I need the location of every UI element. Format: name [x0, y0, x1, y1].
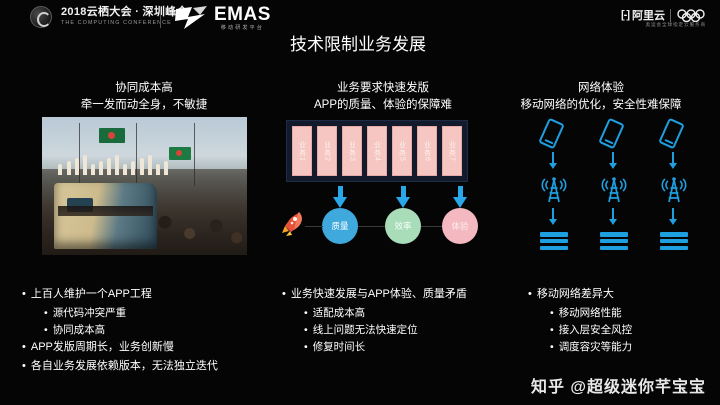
photo-person [164, 161, 168, 175]
bullet-dot-icon: • [304, 341, 308, 354]
column1-heading-line2: 牵一发而动全身，不敏捷 [28, 97, 260, 114]
connector-line [421, 226, 442, 227]
conference-branding: 2018云栖大会 · 深圳峰会 THE COMPUTING CONFERENCE [30, 6, 188, 28]
column2-heading-line2: APP的质量、体验的保障难 [278, 97, 488, 114]
outcome-circle[interactable]: 质量 [322, 208, 358, 244]
bullet-text: 源代码冲突严重 [53, 307, 127, 320]
server-rack-icon [660, 232, 688, 252]
business-box[interactable]: 业务7 [442, 126, 462, 176]
sub-bullet-item: •协同成本高 [44, 324, 277, 337]
photo-person [75, 158, 79, 175]
rocket-icon [279, 207, 309, 237]
network-path [653, 120, 699, 255]
crowded-train-photo [42, 117, 247, 255]
bullet-text: 协同成本高 [53, 324, 106, 337]
cell-tower-icon [599, 175, 629, 203]
photo-flag [99, 128, 125, 143]
business-box[interactable]: 业务6 [417, 126, 437, 176]
column1-heading-line1: 协同成本高 [28, 80, 260, 97]
outcome-circle[interactable]: 体验 [442, 208, 478, 244]
page-title: 技术限制业务发展 [290, 30, 426, 55]
down-arrow-icon [612, 208, 614, 220]
bullet-dot-icon: • [304, 324, 308, 337]
column-heading-collaboration: 协同成本高 牵一发而动全身，不敏捷 [28, 80, 260, 113]
photo-person [148, 155, 152, 175]
bullet-dot-icon: • [22, 288, 26, 302]
alibaba-cloud-branding: [-] 阿里云 [621, 7, 706, 23]
conference-name-en: THE COMPUTING CONFERENCE [61, 21, 188, 27]
down-arrow-icon [453, 186, 467, 210]
photo-person [107, 158, 111, 175]
sub-bullet-item: •移动网络性能 [550, 307, 718, 320]
business-box-label: 业务7 [449, 141, 456, 162]
bullet-text: APP发版周期长，业务创新慢 [31, 341, 174, 355]
photo-person [99, 161, 103, 175]
business-box-label: 业务3 [349, 141, 356, 162]
sub-bullet-item: •修复时间长 [304, 341, 522, 354]
outcome-circle[interactable]: 效率 [385, 208, 421, 244]
phone-icon [598, 118, 625, 150]
photo-train [54, 183, 157, 249]
column2-heading-line1: 业务要求快速发版 [278, 80, 488, 97]
bullet-text: 业务快速发展与APP体验、质量矛盾 [291, 288, 467, 302]
down-arrow-icon [672, 208, 674, 220]
down-arrow-icon [396, 186, 410, 210]
down-arrow-icon [612, 152, 614, 164]
bullet-text: 移动网络差异大 [537, 288, 614, 302]
bullet-item: •业务快速发展与APP体验、质量矛盾 [282, 288, 522, 302]
bullet-text: 各自业务发展依赖版本，无法独立迭代 [31, 360, 218, 374]
business-box-label: 业务2 [324, 141, 331, 162]
column3-heading-line1: 网络体验 [492, 80, 710, 97]
photo-person [140, 158, 144, 175]
photo-person [131, 161, 135, 175]
sub-bullet-item: •接入层安全风控 [550, 324, 718, 337]
bullet-item: •APP发版周期长，业务创新慢 [22, 341, 277, 355]
down-arrow-icon [333, 186, 347, 210]
photo-train-roof [58, 206, 152, 217]
phone-icon [538, 118, 565, 150]
watermark: 知乎 @超级迷你芊宝宝 [531, 373, 706, 397]
photo-person [58, 164, 62, 175]
cell-tower-icon [659, 175, 689, 203]
bullet-text: 上百人维护一个APP工程 [31, 288, 152, 302]
sub-bullet-item: •源代码冲突严重 [44, 307, 277, 320]
business-box-label: 业务4 [374, 141, 381, 162]
bullet-text: 线上问题无法快速定位 [313, 324, 418, 337]
bullet-text: 调度容灾等能力 [559, 341, 633, 354]
bullet-item: •上百人维护一个APP工程 [22, 288, 277, 302]
emas-branding: EMAS 移动研发平台 [175, 5, 271, 31]
bullet-text: 修复时间长 [313, 341, 366, 354]
bullet-dot-icon: • [44, 324, 48, 337]
column-heading-release: 业务要求快速发版 APP的质量、体验的保障难 [278, 80, 488, 113]
photo-person [67, 161, 71, 175]
bullet-item: •移动网络差异大 [528, 288, 718, 302]
photo-people-on-roof [58, 142, 171, 175]
conference-name-cn: 2018云栖大会 · 深圳峰会 [61, 7, 188, 19]
phone-icon [658, 118, 685, 150]
brand-divider [670, 9, 671, 22]
photo-person [83, 155, 87, 175]
emas-title: EMAS [214, 5, 271, 24]
emas-subtitle: 移动研发平台 [214, 26, 271, 31]
server-rack-icon [540, 232, 568, 252]
sub-bullet-item: •适配成本高 [304, 307, 522, 320]
bullet-list-collaboration: •上百人维护一个APP工程•源代码冲突严重•协同成本高•APP发版周期长，业务创… [22, 288, 277, 379]
sub-bullet-item: •线上问题无法快速定位 [304, 324, 522, 337]
alibaba-cloud-tagline: 奥运会全球指定云服务商 [646, 22, 706, 28]
down-arrow-icon [672, 152, 674, 164]
emas-logo-icon [175, 5, 209, 31]
column3-heading-line2: 移动网络的优化，安全性难保障 [492, 97, 710, 114]
server-rack-icon [600, 232, 628, 252]
column-heading-network: 网络体验 移动网络的优化，安全性难保障 [492, 80, 710, 113]
bullet-dot-icon: • [44, 307, 48, 320]
connector-line [358, 226, 385, 227]
bullet-text: 接入层安全风控 [559, 324, 633, 337]
bullet-dot-icon: • [550, 324, 554, 337]
conference-globe-icon [30, 6, 52, 28]
bullet-dot-icon: • [550, 341, 554, 354]
alibaba-cloud-icon: [-] [621, 9, 629, 21]
alibaba-cloud-name: 阿里云 [632, 7, 665, 23]
photo-person [115, 155, 119, 175]
bullet-text: 适配成本高 [313, 307, 366, 320]
header-divider [160, 7, 161, 28]
bullet-dot-icon: • [282, 288, 286, 302]
bullet-list-network: •移动网络差异大•移动网络性能•接入层安全风控•调度容灾等能力 [528, 288, 718, 358]
bullet-text: 移动网络性能 [559, 307, 622, 320]
bullet-dot-icon: • [528, 288, 532, 302]
bullet-dot-icon: • [550, 307, 554, 320]
bullet-list-release: •业务快速发展与APP体验、质量矛盾•适配成本高•线上问题无法快速定位•修复时间… [282, 288, 522, 358]
photo-person [91, 164, 95, 175]
network-path [533, 120, 579, 255]
bullet-dot-icon: • [304, 307, 308, 320]
photo-flag [169, 147, 191, 160]
bullet-item: •各自业务发展依赖版本，无法独立迭代 [22, 360, 277, 374]
bullet-dot-icon: • [22, 341, 26, 355]
business-box[interactable]: 业务4 [367, 126, 387, 176]
business-box[interactable]: 业务3 [342, 126, 362, 176]
down-arrow-icon [552, 208, 554, 220]
photo-person [123, 164, 127, 175]
cell-tower-icon [539, 175, 569, 203]
photo-person [156, 164, 160, 175]
olympic-rings-icon [676, 9, 706, 22]
business-box[interactable]: 业务5 [392, 126, 412, 176]
business-box-label: 业务5 [399, 141, 406, 162]
business-box[interactable]: 业务2 [317, 126, 337, 176]
down-arrow-icon [552, 152, 554, 164]
sub-bullet-item: •调度容灾等能力 [550, 341, 718, 354]
bullet-dot-icon: • [22, 360, 26, 374]
network-path [593, 120, 639, 255]
business-box-label: 业务1 [299, 141, 306, 162]
business-box-label: 业务6 [424, 141, 431, 162]
business-box[interactable]: 业务1 [292, 126, 312, 176]
